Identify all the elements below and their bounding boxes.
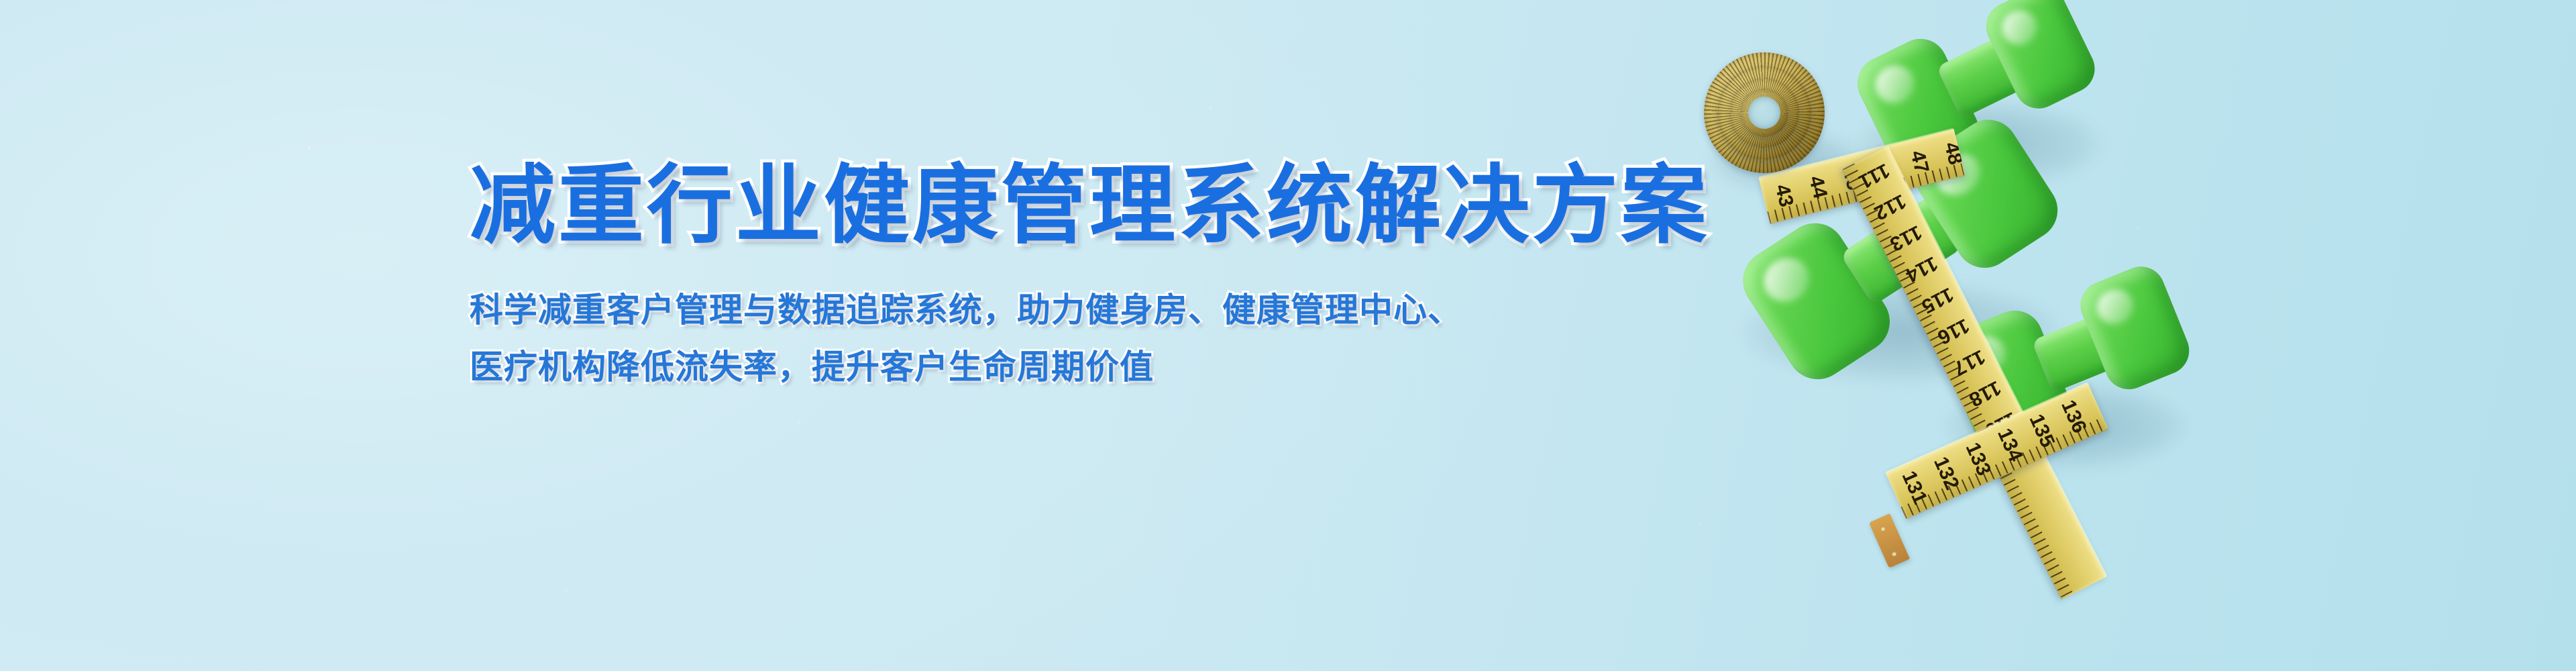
tape-number: 133: [1960, 439, 1995, 480]
tape-number: 136: [2056, 396, 2091, 437]
tape-number: 112: [1869, 189, 1911, 225]
tape-number: 43: [1768, 176, 1799, 215]
hero-subtitle-line-1: 科学减重客户管理与数据追踪系统，助力健身房、健康管理中心、: [470, 282, 1677, 339]
tape-number: 115: [1917, 282, 1958, 318]
tape-number: 47: [1904, 142, 1935, 182]
tape-number: 111: [1854, 158, 1895, 194]
tape-number: 116: [1933, 313, 1974, 349]
tape-number: 113: [1885, 219, 1927, 256]
tape-measure-roll: [1704, 52, 1825, 173]
tape-number: 118: [1964, 375, 2006, 411]
tape-number: 132: [1929, 453, 1964, 494]
hero-copy-block: 减重行业健康管理系统解决方案 科学减重客户管理与数据追踪系统，助力健身房、健康管…: [470, 160, 1677, 396]
hero-subtitle-line-2: 医疗机构降低流失率，提升客户生命周期价值: [470, 339, 1677, 396]
tape-measure-metal-tip: [1869, 513, 1910, 568]
tape-number: 117: [1948, 344, 1990, 380]
tape-number: 44: [1803, 168, 1833, 207]
tape-number: 114: [1901, 251, 1943, 287]
page-title: 减重行业健康管理系统解决方案: [470, 160, 1677, 252]
tape-number: 131: [1896, 467, 1931, 508]
hero-photo-dumbbells-tape: 434445464748 111112113114115116117118119…: [1664, 0, 2120, 671]
hero-banner: 减重行业健康管理系统解决方案 科学减重客户管理与数据追踪系统，助力健身房、健康管…: [0, 0, 2576, 671]
hero-subtitle: 科学减重客户管理与数据追踪系统，助力健身房、健康管理中心、 医疗机构降低流失率，…: [470, 252, 1677, 396]
tape-number: 135: [2024, 411, 2059, 452]
tape-coil-center: [1748, 97, 1780, 129]
tape-number: 134: [1992, 425, 2027, 466]
